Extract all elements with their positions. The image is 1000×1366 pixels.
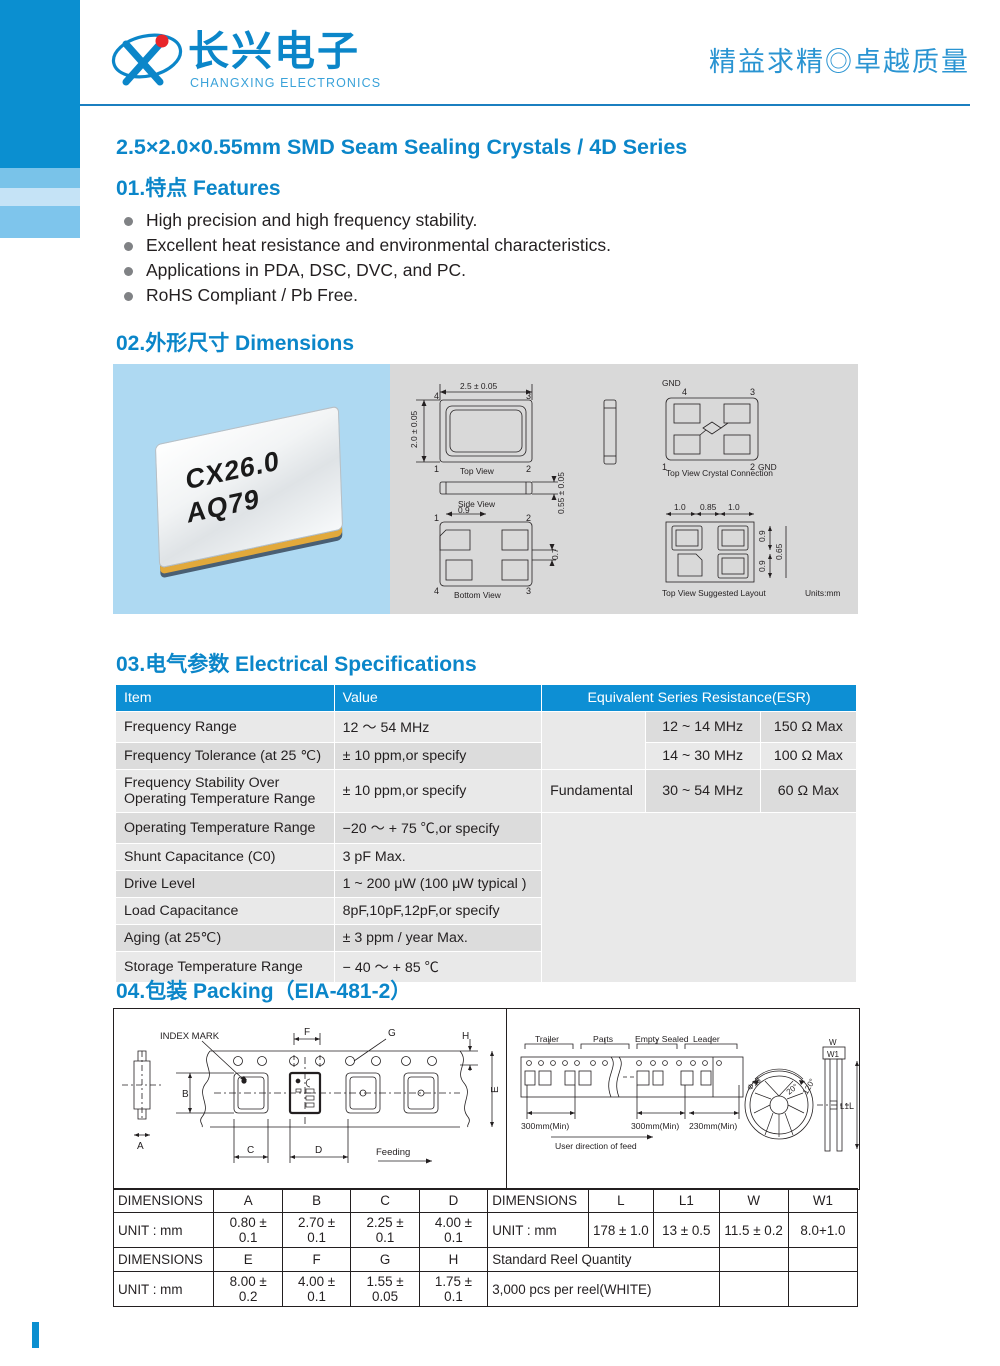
features-list: High precision and high frequency stabil… bbox=[122, 208, 822, 308]
table-row: UNIT : mm 0.80 ± 0.1 2.70 ± 0.1 2.25 ± 0… bbox=[114, 1213, 858, 1248]
right-r2-c4 bbox=[788, 1248, 857, 1272]
page-edge-mark bbox=[32, 1322, 39, 1348]
top-view-label: Top View bbox=[460, 466, 495, 476]
esr-empty-area bbox=[542, 813, 857, 983]
spec-value: ± 10 ppm,or specify bbox=[334, 770, 541, 813]
spec-item: Drive Level bbox=[116, 871, 335, 898]
list-item: RoHS Compliant / Pb Free. bbox=[122, 283, 822, 308]
section-title-dimensions: 02.外形尺寸 Dimensions bbox=[116, 327, 354, 357]
logo-chinese-name: 长兴电子 bbox=[188, 28, 360, 74]
table-row: Operating Temperature Range −20 ～ + 75 ℃… bbox=[116, 813, 857, 844]
suggested-layout-label: Top View Suggested Layout bbox=[662, 588, 766, 598]
left-r2-c2: F bbox=[282, 1248, 350, 1272]
layout-pad-gap: 0.65 bbox=[774, 543, 784, 560]
spec-item: Aging (at 25℃) bbox=[116, 925, 335, 952]
rail-band-primary bbox=[0, 0, 80, 168]
left-r2-c0: DIMENSIONS bbox=[114, 1248, 214, 1272]
crystal-package-image: CX26.0 AQ79 bbox=[155, 426, 350, 556]
spec-value: 1 ~ 200 μW (100 μW typical ) bbox=[334, 871, 541, 898]
spec-item: Operating Temperature Range bbox=[116, 813, 335, 844]
tape-drawing: INDEX MARK B A F G H E C D Feeding bbox=[114, 1009, 506, 1189]
esr-value: 100 Ω Max bbox=[760, 743, 856, 770]
left-r3-c3: 1.55 ± 0.05 bbox=[351, 1272, 419, 1307]
header-tagline: 精益求精◎卓越质量 bbox=[709, 40, 970, 79]
left-r0-c1: A bbox=[214, 1189, 282, 1213]
esr-spacer bbox=[542, 712, 646, 770]
left-r1-c0: UNIT : mm bbox=[114, 1213, 214, 1248]
spec-item: Shunt Capacitance (C0) bbox=[116, 844, 335, 871]
gnd-label-4: GND bbox=[662, 378, 681, 388]
layout-pad-h1: 0.9 bbox=[757, 530, 767, 542]
rail-band-low bbox=[0, 206, 80, 238]
right-r0-c1: L bbox=[588, 1189, 653, 1213]
trailer-length: 300mm(Min) bbox=[521, 1121, 569, 1131]
reel-angle-1: 20° bbox=[785, 1082, 800, 1097]
reel-drawing: Trailer Parts Empty Sealed Leader 300mm(… bbox=[506, 1009, 860, 1189]
reel-diameter-label: Φ13 bbox=[745, 1075, 763, 1092]
left-r0-c3: C bbox=[351, 1189, 419, 1213]
pin-3-bottom: 3 bbox=[526, 586, 531, 596]
reel-w-label: W bbox=[829, 1038, 837, 1047]
spec-item: Frequency Stability Over Operating Tempe… bbox=[116, 770, 335, 813]
left-r3-c0: UNIT : mm bbox=[114, 1272, 214, 1307]
reel-angle-2: 120° bbox=[801, 1077, 817, 1096]
right-r1-c0: UNIT : mm bbox=[488, 1213, 588, 1248]
spec-value: 3 pF Max. bbox=[334, 844, 541, 871]
esr-mode: Fundamental bbox=[542, 770, 646, 813]
right-r3-c3 bbox=[719, 1272, 788, 1307]
dim-c-label: C bbox=[247, 1145, 254, 1156]
right-r1-c1: 178 ± 1.0 bbox=[588, 1213, 653, 1248]
left-r0-c4: D bbox=[419, 1189, 487, 1213]
rail-band-pale bbox=[0, 188, 80, 206]
left-r1-c4: 4.00 ± 0.1 bbox=[419, 1213, 487, 1248]
pin-3-conn: 3 bbox=[750, 387, 755, 397]
spec-item-line2: Operating Temperature Range bbox=[124, 791, 315, 807]
pin-2-bottom: 2 bbox=[526, 513, 531, 523]
left-r3-c1: 8.00 ± 0.2 bbox=[214, 1272, 282, 1307]
left-r0-c0: DIMENSIONS bbox=[114, 1189, 214, 1213]
dim-b-label: B bbox=[182, 1089, 189, 1100]
page-header: 长兴电子 CHANGXING ELECTRONICS 精益求精◎卓越质量 bbox=[110, 26, 970, 104]
right-r2-c0: Standard Reel Quantity bbox=[488, 1248, 719, 1272]
right-r0-c3: W bbox=[719, 1189, 788, 1213]
left-r2-c1: E bbox=[214, 1248, 282, 1272]
esr-value: 60 Ω Max bbox=[760, 770, 856, 813]
esr-title: Equivalent Series Resistance(ESR) bbox=[542, 685, 857, 712]
pin-2-top: 2 bbox=[526, 464, 531, 474]
table-header-row: Item Value Equivalent Series Resistance(… bbox=[116, 685, 857, 712]
pin-1-top: 1 bbox=[434, 464, 439, 474]
pin-3-top: 3 bbox=[526, 391, 531, 401]
right-r2-c3 bbox=[719, 1248, 788, 1272]
left-r3-c2: 4.00 ± 0.1 bbox=[282, 1272, 350, 1307]
empty-sealed-label: Empty Sealed bbox=[635, 1034, 689, 1044]
table-row: UNIT : mm 8.00 ± 0.2 4.00 ± 0.1 1.55 ± 0… bbox=[114, 1272, 858, 1307]
spec-value: ± 10 ppm,or specify bbox=[334, 743, 541, 770]
header-divider bbox=[80, 104, 970, 106]
feature-text: Excellent heat resistance and environmen… bbox=[146, 235, 611, 255]
left-decorative-rail bbox=[0, 0, 80, 238]
spec-item-line1: Frequency Stability Over bbox=[124, 775, 279, 791]
table-row: Frequency Tolerance (at 25 ℃) ± 10 ppm,o… bbox=[116, 743, 857, 770]
bullet-icon bbox=[124, 292, 133, 301]
reel-w1-label: W1 bbox=[827, 1050, 840, 1059]
dim-a-label: A bbox=[137, 1141, 144, 1152]
spec-value: 8pF,10pF,12pF,or specify bbox=[334, 898, 541, 925]
feature-text: High precision and high frequency stabil… bbox=[146, 210, 477, 230]
feature-text: Applications in PDA, DSC, DVC, and PC. bbox=[146, 260, 466, 280]
bullet-icon bbox=[124, 217, 133, 226]
dimensions-panel: CX26.0 AQ79 bbox=[113, 364, 858, 614]
parts-label: Parts bbox=[593, 1034, 613, 1044]
dim-bottom-gap-label: 0.7 bbox=[550, 548, 560, 560]
table-row: Frequency Range 12 ～ 54 MHz 12 ~ 14 MHz … bbox=[116, 712, 857, 743]
feature-text: RoHS Compliant / Pb Free. bbox=[146, 285, 358, 305]
right-r1-c4: 8.0+1.0 bbox=[788, 1213, 857, 1248]
packing-panel: INDEX MARK B A F G H E C D Feeding bbox=[113, 1008, 860, 1190]
left-r0-c2: B bbox=[282, 1189, 350, 1213]
left-r2-c4: H bbox=[419, 1248, 487, 1272]
right-r1-c3: 11.5 ± 0.2 bbox=[719, 1213, 788, 1248]
bullet-icon bbox=[124, 242, 133, 251]
dim-d-label: D bbox=[315, 1145, 322, 1156]
col-value: Value bbox=[334, 685, 541, 712]
leader-length: 230mm(Min) bbox=[689, 1121, 737, 1131]
spec-item: Frequency Tolerance (at 25 ℃) bbox=[116, 743, 335, 770]
right-r1-c2: 13 ± 0.5 bbox=[654, 1213, 719, 1248]
empty-length: 300mm(Min) bbox=[631, 1121, 679, 1131]
esr-value: 150 Ω Max bbox=[760, 712, 856, 743]
bullet-icon bbox=[124, 267, 133, 276]
esr-range: 12 ~ 14 MHz bbox=[645, 712, 760, 743]
dim-f-label: F bbox=[304, 1027, 310, 1038]
left-r1-c2: 2.70 ± 0.1 bbox=[282, 1213, 350, 1248]
dim-side-pad-label: 0.9 bbox=[458, 505, 470, 515]
dim-width-label: 2.5 ± 0.05 bbox=[460, 381, 498, 391]
spec-item: Load Capacitance bbox=[116, 898, 335, 925]
table-row: Frequency Stability Over Operating Tempe… bbox=[116, 770, 857, 813]
layout-dim-left: 1.0 bbox=[674, 502, 686, 512]
section-title-features: 01.特点 Features bbox=[116, 172, 281, 202]
feeding-label: Feeding bbox=[376, 1147, 410, 1158]
pin-4-conn: 4 bbox=[682, 387, 687, 397]
dim-h-label: H bbox=[462, 1031, 469, 1042]
list-item: High precision and high frequency stabil… bbox=[122, 208, 822, 233]
bottom-view-label: Bottom View bbox=[454, 590, 502, 600]
spec-item: Frequency Range bbox=[116, 712, 335, 743]
right-r3-c0: 3,000 pcs per reel(WHITE) bbox=[488, 1272, 719, 1307]
right-r0-c4: W1 bbox=[788, 1189, 857, 1213]
layout-pad-h2: 0.9 bbox=[757, 560, 767, 572]
list-item: Applications in PDA, DSC, DVC, and PC. bbox=[122, 258, 822, 283]
company-logo: 长兴电子 CHANGXING ELECTRONICS bbox=[110, 26, 440, 96]
dim-thickness-label: 0.55 ± 0.05 bbox=[556, 472, 566, 514]
dimension-drawings: 2.5 ± 0.05 2.0 ± 0.05 0.55 ± 0.05 4 3 1 … bbox=[390, 364, 858, 614]
right-r0-c2: L1 bbox=[654, 1189, 719, 1213]
units-label: Units:mm bbox=[805, 588, 840, 598]
layout-dim-mid: 0.85 bbox=[700, 502, 717, 512]
col-item: Item bbox=[116, 685, 335, 712]
trailer-label: Trailer bbox=[535, 1034, 559, 1044]
spec-value: −20 ～ + 75 ℃,or specify bbox=[334, 813, 541, 844]
reel-l-label: L bbox=[849, 1101, 854, 1111]
left-r3-c4: 1.75 ± 0.1 bbox=[419, 1272, 487, 1307]
cx-swoosh-icon bbox=[110, 30, 184, 88]
table-row: DIMENSIONS A B C D DIMENSIONS L L1 W W1 bbox=[114, 1189, 858, 1213]
page-title: 2.5×2.0×0.55mm SMD Seam Sealing Crystals… bbox=[116, 135, 687, 160]
logo-english-name: CHANGXING ELECTRONICS bbox=[190, 76, 381, 90]
left-r1-c1: 0.80 ± 0.1 bbox=[214, 1213, 282, 1248]
esr-range: 30 ~ 54 MHz bbox=[645, 770, 760, 813]
left-r1-c3: 2.25 ± 0.1 bbox=[351, 1213, 419, 1248]
esr-range: 14 ~ 30 MHz bbox=[645, 743, 760, 770]
spec-value: 12 ～ 54 MHz bbox=[334, 712, 541, 743]
index-mark-label: INDEX MARK bbox=[160, 1031, 220, 1042]
packing-dimension-tables: DIMENSIONS A B C D DIMENSIONS L L1 W W1 … bbox=[113, 1188, 858, 1307]
table-row: DIMENSIONS E F G H Standard Reel Quantit… bbox=[114, 1248, 858, 1272]
pin-4-top: 4 bbox=[434, 391, 439, 401]
left-r2-c3: G bbox=[351, 1248, 419, 1272]
pin-4-bottom: 4 bbox=[434, 586, 439, 596]
electrical-specifications-table: Item Value Equivalent Series Resistance(… bbox=[115, 684, 857, 983]
layout-dim-right: 1.0 bbox=[728, 502, 740, 512]
feed-direction-label: User direction of feed bbox=[555, 1141, 637, 1151]
right-r3-c4 bbox=[788, 1272, 857, 1307]
crystal-connection-label: Top View Crystal Connection bbox=[666, 468, 773, 478]
right-r0-c0: DIMENSIONS bbox=[488, 1189, 588, 1213]
section-title-electrical: 03.电气参数 Electrical Specifications bbox=[116, 648, 477, 678]
dim-g-label: G bbox=[388, 1028, 396, 1039]
product-photo: CX26.0 AQ79 bbox=[113, 364, 390, 614]
dim-height-label: 2.0 ± 0.05 bbox=[409, 410, 419, 448]
leader-label: Leader bbox=[693, 1034, 720, 1044]
rail-band-mid bbox=[0, 168, 80, 188]
section-title-packing: 04.包装 Packing（EIA-481-2） bbox=[116, 975, 411, 1005]
dim-e-label: E bbox=[490, 1086, 501, 1093]
list-item: Excellent heat resistance and environmen… bbox=[122, 233, 822, 258]
spec-value: ± 3 ppm / year Max. bbox=[334, 925, 541, 952]
pin-1-bottom: 1 bbox=[434, 513, 439, 523]
